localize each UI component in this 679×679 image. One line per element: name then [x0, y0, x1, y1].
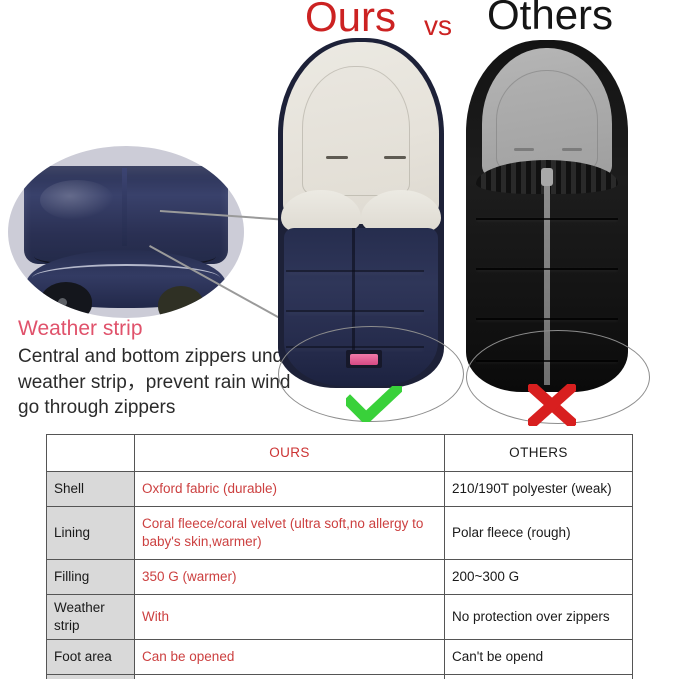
others-harness-slot-left — [514, 148, 534, 151]
table-cell-ours: Coral fleece/coral velvet (ultra soft,no… — [135, 507, 445, 560]
table-cell-others: Polar fleece (rough) — [445, 507, 633, 560]
others-fleece-inner-panel — [496, 70, 598, 170]
ours-quilt-line — [286, 270, 424, 272]
table-row: Weather strip With No protection over zi… — [47, 595, 633, 640]
cross-mark-icon — [528, 384, 576, 426]
heading-others: Others — [487, 0, 613, 36]
table-cell-feature: Filling — [47, 560, 135, 595]
ours-harness-slot-right — [384, 156, 406, 159]
others-quilt-line — [476, 318, 618, 320]
table-header-others: OTHERS — [445, 435, 633, 472]
stroller-wheel-left — [40, 282, 92, 318]
table-row: Lining Coral fleece/coral velvet (ultra … — [47, 507, 633, 560]
table-header-ours: OURS — [135, 435, 445, 472]
others-quilt-line — [476, 218, 618, 220]
callout-body: Central and bottom zippers under weather… — [18, 344, 308, 420]
weather-strip-callout: Weather strip Central and bottom zippers… — [18, 316, 308, 420]
comparison-table: OURS OTHERS Shell Oxford fabric (durable… — [46, 434, 633, 679]
stroller-wheel-right — [158, 286, 204, 318]
table-cell-feature: Foot area — [47, 640, 135, 675]
product-comparison-image: Ours vs Others Weather strip Central and… — [0, 0, 679, 679]
table-row: 5 point safty harness 9 slots (humanized… — [47, 675, 633, 679]
table-cell-feature: Weather strip — [47, 595, 135, 640]
table-cell-ours: Oxford fabric (durable) — [135, 472, 445, 507]
table-cell-feature: Lining — [47, 507, 135, 560]
ours-harness-slot-left — [326, 156, 348, 159]
callout-title: Weather strip — [18, 316, 308, 342]
table-cell-others: No protection over zippers — [445, 595, 633, 640]
others-zipper-pull — [541, 168, 553, 186]
others-harness-slot-right — [562, 148, 582, 151]
table-row: Shell Oxford fabric (durable) 210/190T p… — [47, 472, 633, 507]
ours-fleece-inner-panel — [302, 66, 410, 196]
table-cell-ours: Can be opened — [135, 640, 445, 675]
weather-strip-detail-oval — [8, 146, 244, 318]
table-cell-ours: With — [135, 595, 445, 640]
table-cell-others: Can't be opend — [445, 640, 633, 675]
others-quilt-line — [476, 268, 618, 270]
table-cell-others: 5 or 7 slots — [445, 675, 633, 679]
table-cell-others: 200~300 G — [445, 560, 633, 595]
check-mark-icon — [346, 386, 402, 422]
table-cell-feature: 5 point safty harness — [47, 675, 135, 679]
heading-ours: Ours — [305, 0, 396, 38]
table-cell-ours: 9 slots (humanized design fits better wh… — [135, 675, 445, 679]
table-header-row: OURS OTHERS — [47, 435, 633, 472]
table-cell-others: 210/190T polyester (weak) — [445, 472, 633, 507]
table-row: Filling 350 G (warmer) 200~300 G — [47, 560, 633, 595]
table-row: Foot area Can be opened Can't be opend — [47, 640, 633, 675]
table-header-blank — [47, 435, 135, 472]
heading-vs: vs — [424, 12, 452, 40]
table-cell-ours: 350 G (warmer) — [135, 560, 445, 595]
ours-quilt-line — [286, 310, 424, 312]
table-cell-feature: Shell — [47, 472, 135, 507]
